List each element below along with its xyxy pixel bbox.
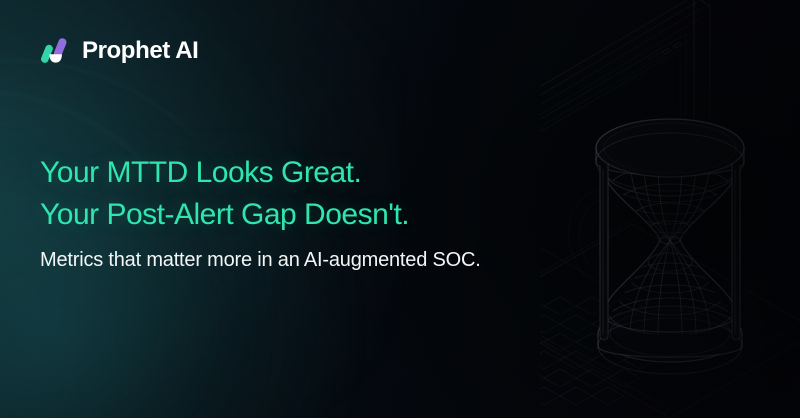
brand-name: Prophet AI bbox=[82, 39, 198, 63]
brand-logo[interactable]: Prophet AI bbox=[40, 36, 198, 66]
hero-copy: Your MTTD Looks Great. Your Post-Alert G… bbox=[40, 152, 620, 274]
headline-line-2: Your Post-Alert Gap Doesn't. bbox=[40, 194, 620, 236]
social-card: Prophet AI Your MTTD Looks Great. Your P… bbox=[0, 0, 800, 418]
prophet-a-mark-icon bbox=[40, 36, 70, 66]
headline-line-1: Your MTTD Looks Great. bbox=[40, 152, 620, 194]
subheadline: Metrics that matter more in an AI-augmen… bbox=[40, 246, 620, 274]
